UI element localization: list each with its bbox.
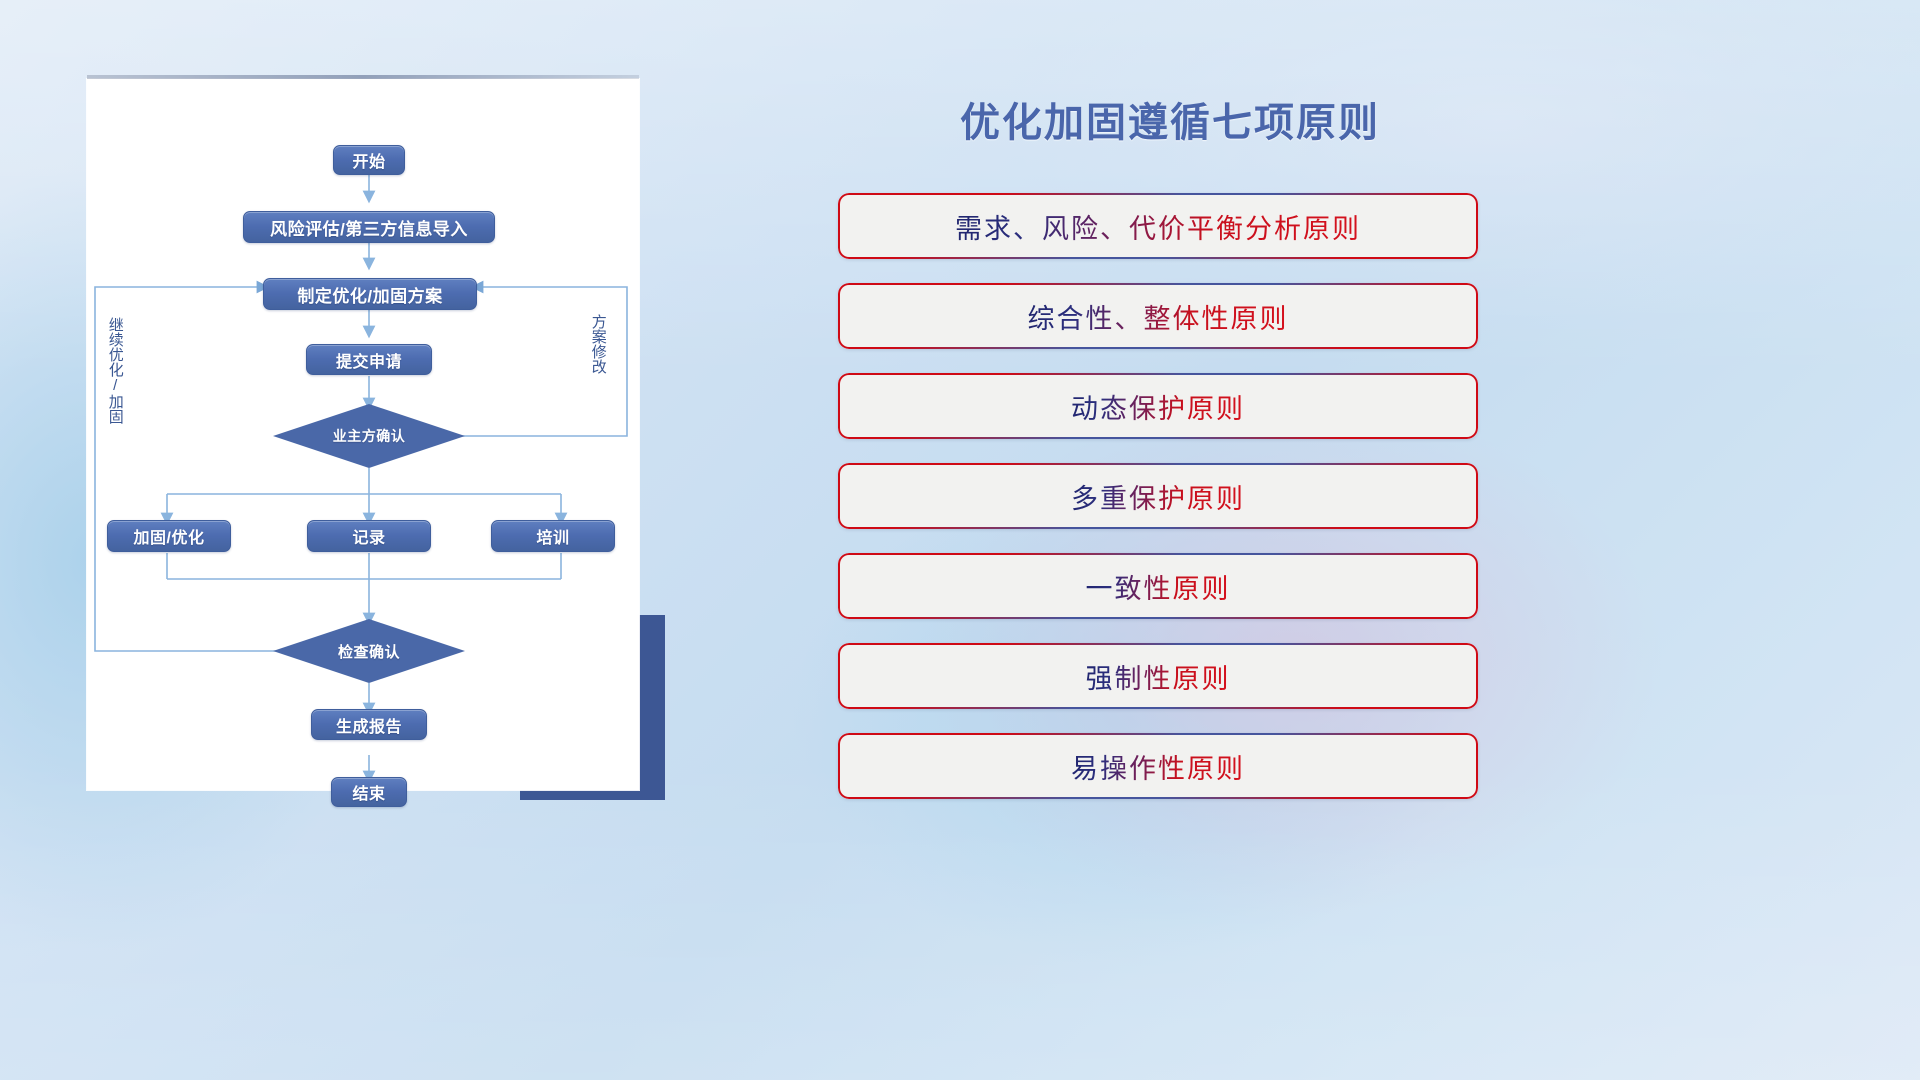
flow-node-risk-assessment[interactable]: 风险评估/第三方信息导入 — [243, 211, 495, 243]
principles-list: 需求、风险、代价平衡分析原则 综合性、整体性原则 动态保护原则 多重保护原则 一… — [838, 193, 1478, 823]
list-item[interactable]: 动态保护原则 — [838, 373, 1478, 439]
list-item[interactable]: 综合性、整体性原则 — [838, 283, 1478, 349]
flow-node-label: 提交申请 — [336, 348, 402, 372]
flow-node-label: 结束 — [352, 780, 385, 804]
list-item[interactable]: 多重保护原则 — [838, 463, 1478, 529]
flow-node-check-confirm[interactable]: 检查确认 — [273, 619, 465, 683]
principle-label: 多重保护原则 — [1071, 477, 1245, 516]
flow-node-submit-application[interactable]: 提交申请 — [306, 344, 432, 375]
list-item[interactable]: 强制性原则 — [838, 643, 1478, 709]
flow-edge-label-continue-loop: 继续优化/加固 — [107, 317, 123, 424]
flow-node-label: 培训 — [536, 524, 569, 548]
flow-node-label: 记录 — [352, 524, 385, 548]
flow-node-make-plan[interactable]: 制定优化/加固方案 — [263, 278, 477, 310]
edge-label-text: 方案修改 — [590, 314, 607, 374]
principle-label: 综合性、整体性原则 — [1028, 297, 1289, 336]
principle-label: 动态保护原则 — [1071, 387, 1245, 426]
flow-node-training[interactable]: 培训 — [491, 520, 615, 552]
flow-node-end[interactable]: 结束 — [331, 777, 407, 807]
list-item[interactable]: 一致性原则 — [838, 553, 1478, 619]
edge-label-text: 继续优化/加固 — [107, 317, 124, 424]
flow-node-start[interactable]: 开始 — [333, 145, 405, 175]
flow-node-label: 风险评估/第三方信息导入 — [270, 215, 468, 240]
page-title: 优化加固遵循七项原则 — [840, 90, 1500, 148]
flow-node-label: 检查确认 — [338, 641, 400, 662]
principle-label: 一致性原则 — [1086, 567, 1231, 606]
flow-node-owner-confirm[interactable]: 业主方确认 — [273, 404, 465, 468]
principle-label: 需求、风险、代价平衡分析原则 — [955, 207, 1361, 246]
flow-node-label: 生成报告 — [336, 713, 402, 737]
list-item[interactable]: 易操作性原则 — [838, 733, 1478, 799]
flow-node-reinforce-optimize[interactable]: 加固/优化 — [107, 520, 231, 552]
flow-node-label: 业主方确认 — [333, 426, 406, 446]
flow-node-record[interactable]: 记录 — [307, 520, 431, 552]
flow-node-generate-report[interactable]: 生成报告 — [311, 709, 427, 740]
flow-node-label: 开始 — [352, 148, 385, 172]
list-item[interactable]: 需求、风险、代价平衡分析原则 — [838, 193, 1478, 259]
flowchart-card: 开始 风险评估/第三方信息导入 制定优化/加固方案 提交申请 业主方确认 加固/… — [87, 79, 639, 790]
principle-label: 易操作性原则 — [1071, 747, 1245, 786]
principle-label: 强制性原则 — [1086, 657, 1231, 696]
flow-edge-label-revise-loop: 方案修改 — [590, 314, 606, 374]
flow-node-label: 制定优化/加固方案 — [297, 282, 442, 307]
flow-node-label: 加固/优化 — [134, 524, 205, 548]
